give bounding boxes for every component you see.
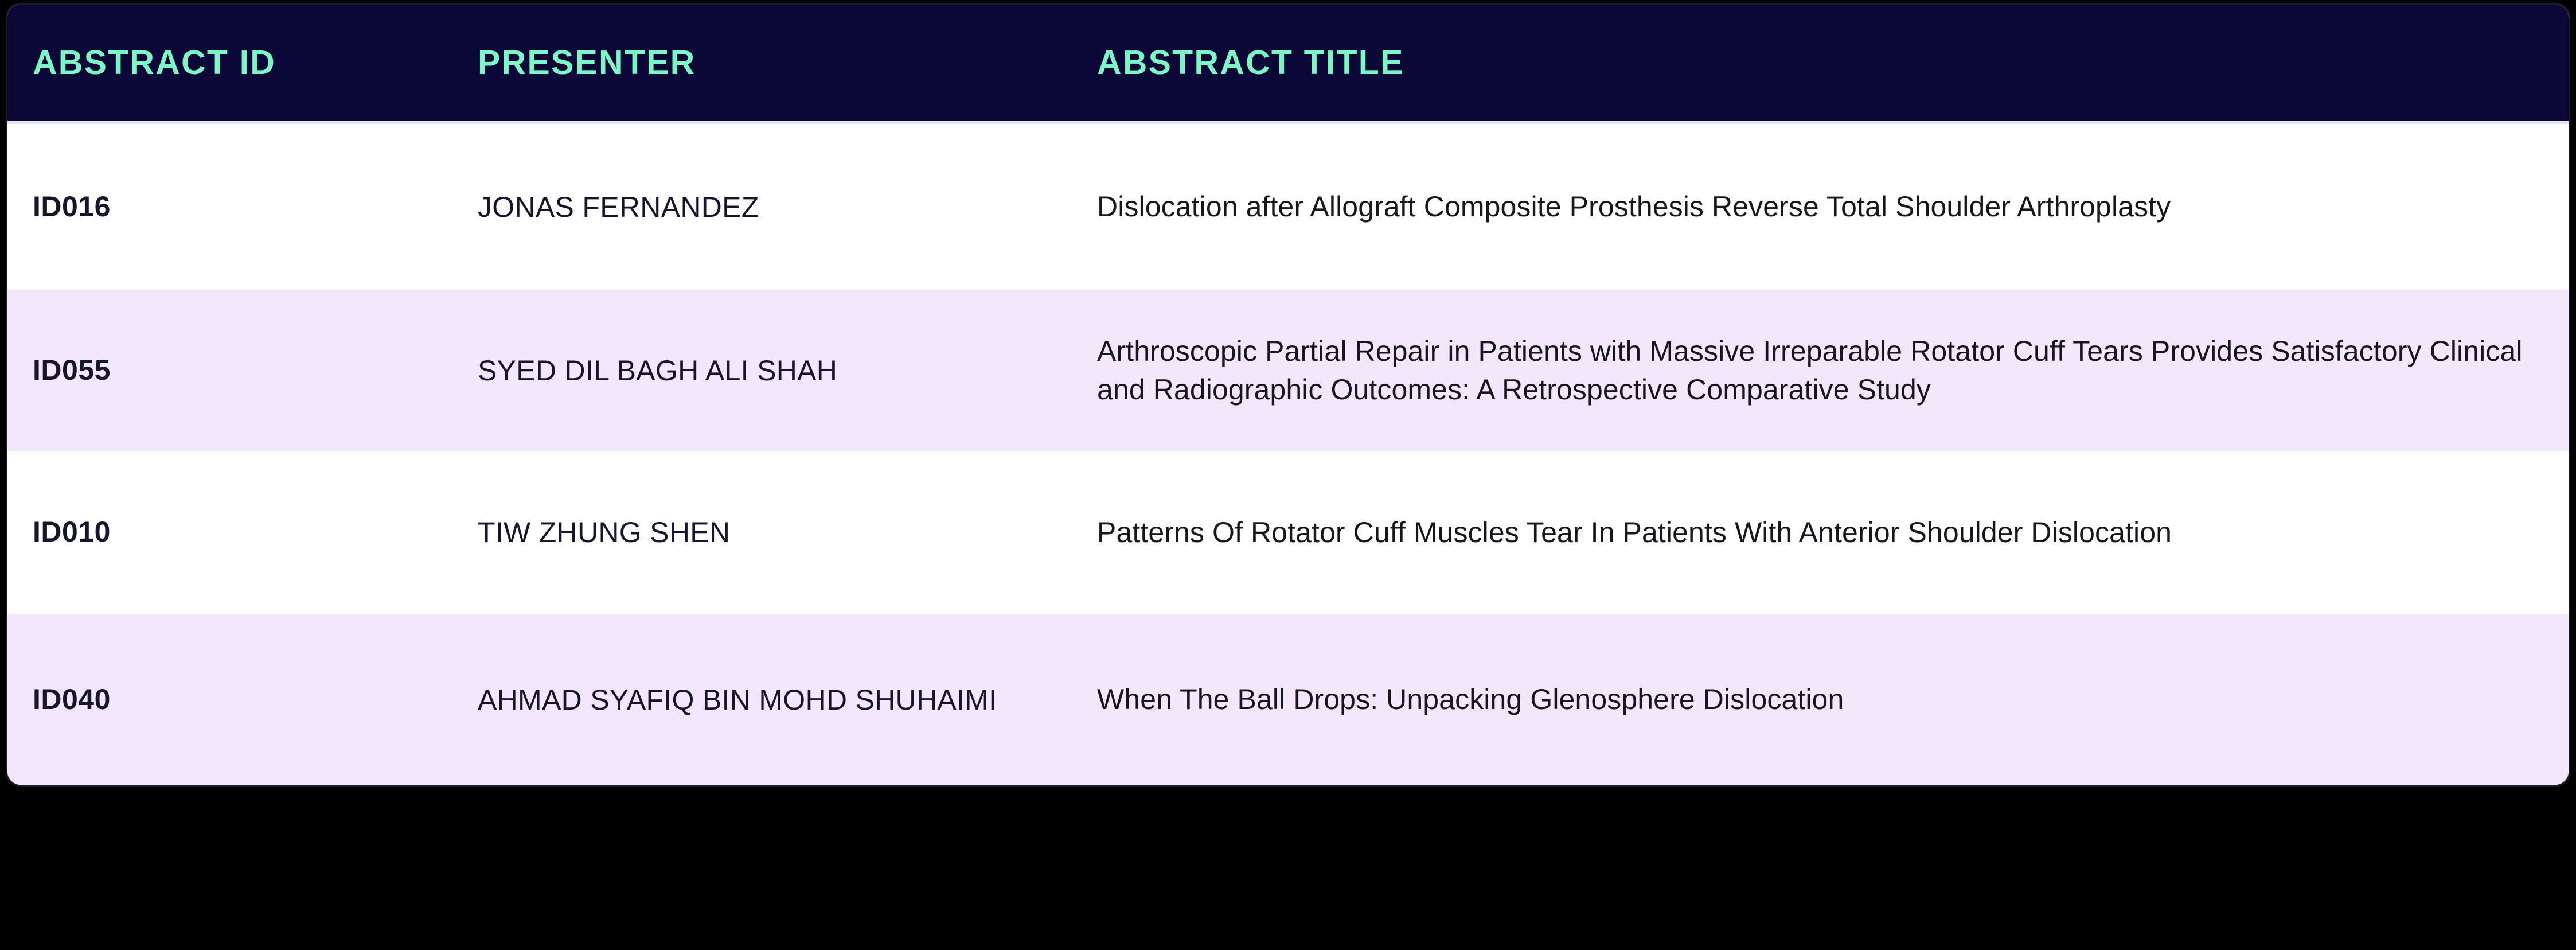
table-header-row: ABSTRACT ID PRESENTER ABSTRACT TITLE — [7, 5, 2569, 124]
abstract-table-card: ABSTRACT ID PRESENTER ABSTRACT TITLE ID0… — [6, 3, 2570, 787]
cell-presenter: SYED DIL BAGH ALI SHAH — [478, 352, 1097, 390]
cell-abstract-id: ID016 — [7, 190, 478, 224]
cell-abstract-title: Patterns Of Rotator Cuff Muscles Tear In… — [1097, 513, 2569, 552]
page-root: ABSTRACT ID PRESENTER ABSTRACT TITLE ID0… — [0, 0, 2576, 950]
cell-abstract-id: ID040 — [7, 683, 478, 717]
cell-abstract-id: ID055 — [7, 354, 478, 387]
column-header-presenter[interactable]: PRESENTER — [478, 46, 1097, 80]
table-body: ID016 JONAS FERNANDEZ Dislocation after … — [7, 124, 2569, 785]
cell-presenter: JONAS FERNANDEZ — [478, 188, 1097, 226]
cell-presenter: AHMAD SYAFIQ BIN MOHD SHUHAIMI — [478, 681, 1097, 719]
table-row[interactable]: ID016 JONAS FERNANDEZ Dislocation after … — [7, 124, 2569, 290]
table-row[interactable]: ID055 SYED DIL BAGH ALI SHAH Arthroscopi… — [7, 290, 2569, 451]
cell-abstract-title: When The Ball Drops: Unpacking Glenosphe… — [1097, 680, 2569, 719]
column-header-abstract-id[interactable]: ABSTRACT ID — [7, 46, 478, 80]
cell-abstract-title: Arthroscopic Partial Repair in Patients … — [1097, 332, 2569, 408]
table-row[interactable]: ID040 AHMAD SYAFIQ BIN MOHD SHUHAIMI Whe… — [7, 614, 2569, 785]
cell-presenter: TIW ZHUNG SHEN — [478, 513, 1097, 551]
table-row[interactable]: ID010 TIW ZHUNG SHEN Patterns Of Rotator… — [7, 451, 2569, 614]
cell-abstract-title: Dislocation after Allograft Composite Pr… — [1097, 188, 2569, 226]
column-header-abstract-title[interactable]: ABSTRACT TITLE — [1097, 46, 2569, 80]
cell-abstract-id: ID010 — [7, 516, 478, 549]
